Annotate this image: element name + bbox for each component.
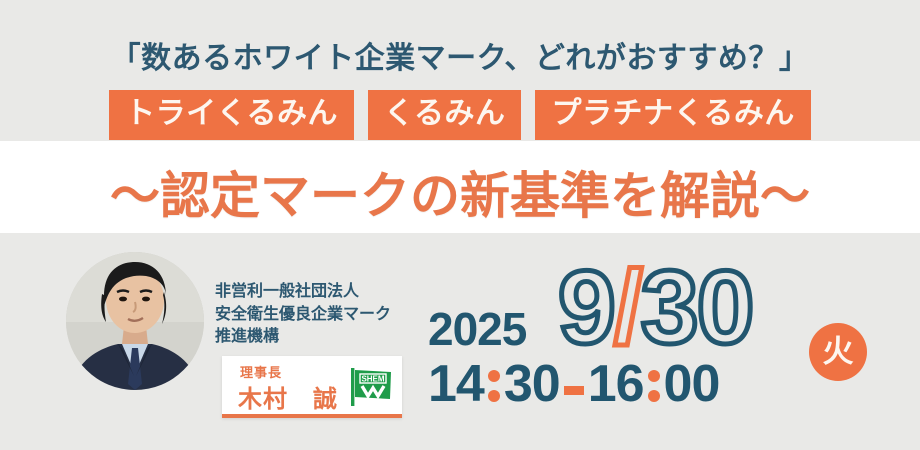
mark-badge-platinum-kurumin: プラチナくるみん — [535, 90, 810, 140]
organization-line-2: 安全衛生優良企業マーク — [215, 304, 391, 327]
event-time-row: 14 30 16 00 — [428, 358, 719, 410]
time-range-dash-icon — [560, 358, 588, 410]
event-year: 2025 — [428, 306, 526, 352]
start-time-colon-icon — [484, 358, 504, 410]
end-time-colon-icon — [644, 358, 664, 410]
speaker-avatar — [66, 252, 204, 390]
start-minute: 30 — [504, 358, 560, 410]
event-day: 30 — [641, 250, 753, 366]
shem-flag-logo: SHEM — [348, 366, 394, 408]
event-month-day: 9/30 — [558, 256, 752, 360]
start-hour: 14 — [428, 358, 484, 410]
end-minute: 00 — [664, 358, 720, 410]
mark-badge-kurumin: くるみん — [368, 90, 521, 140]
event-month: 9 — [558, 250, 614, 366]
headline-text: 「数あるホワイト企業マーク、どれがおすすめ？」 — [0, 33, 920, 77]
organization-block: 非営利一般社団法人 安全衛生優良企業マーク 推進機構 — [215, 281, 391, 349]
webinar-banner: 「数あるホワイト企業マーク、どれがおすすめ？」 トライくるみん くるみん プラチ… — [0, 0, 920, 450]
end-hour: 16 — [588, 358, 644, 410]
organization-line-1: 非営利一般社団法人 — [215, 281, 391, 304]
organization-line-3: 推進機構 — [215, 326, 391, 349]
svg-text:SHEM: SHEM — [361, 375, 384, 384]
speaker-name-card: 理事長 木村 誠 SHEM — [222, 356, 402, 418]
mark-badge-row: トライくるみん くるみん プラチナくるみん — [0, 90, 920, 140]
main-title-text: 〜認定マークの新基準を解説〜 — [0, 156, 920, 228]
date-separator: / — [614, 250, 641, 366]
mark-badge-try-kurumin: トライくるみん — [109, 90, 354, 140]
weekday-badge: 火 — [809, 323, 867, 381]
speaker-name-label: 木村 誠 — [238, 379, 338, 414]
